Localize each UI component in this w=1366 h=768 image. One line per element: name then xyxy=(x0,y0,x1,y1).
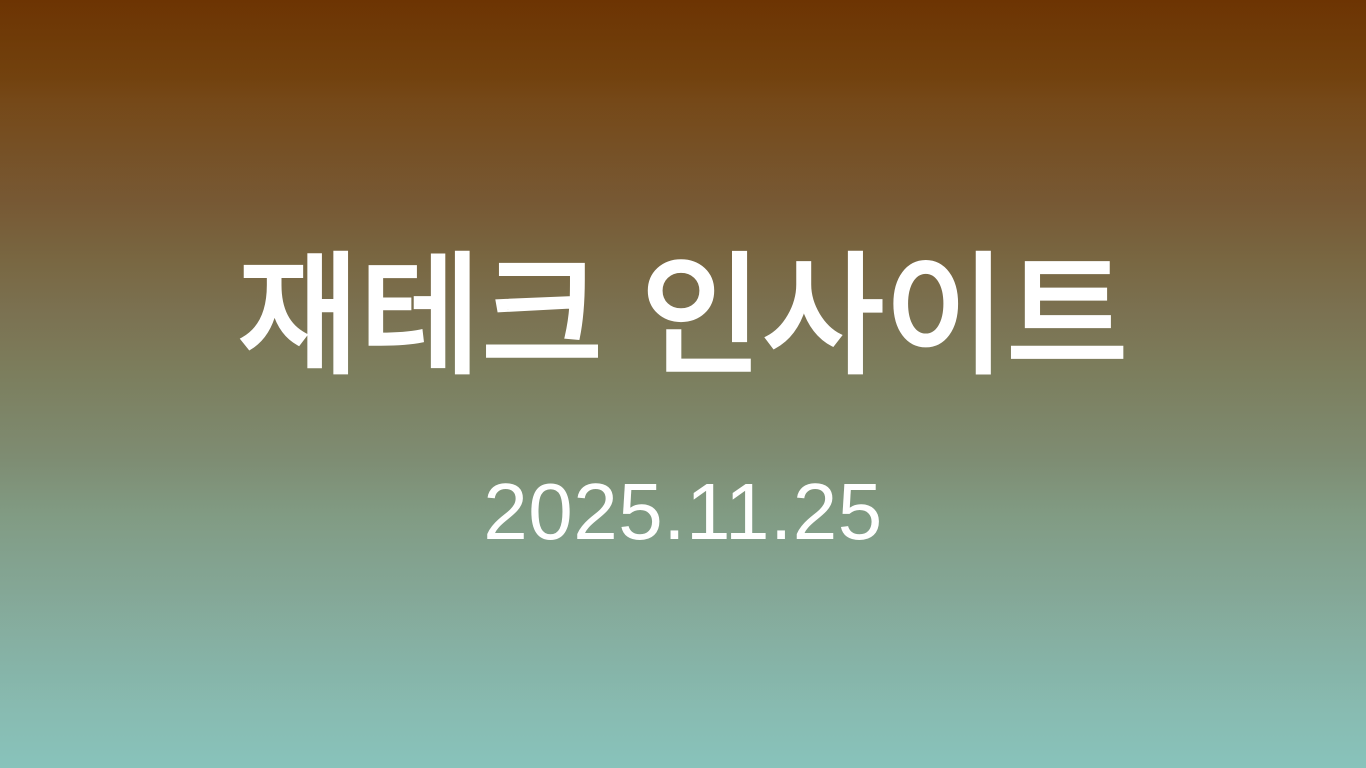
cover-date: 2025.11.25 xyxy=(0,472,1366,552)
page-title: 재테크 인사이트 xyxy=(0,248,1366,385)
cover-slide: 재테크 인사이트 2025.11.25 xyxy=(0,0,1366,768)
